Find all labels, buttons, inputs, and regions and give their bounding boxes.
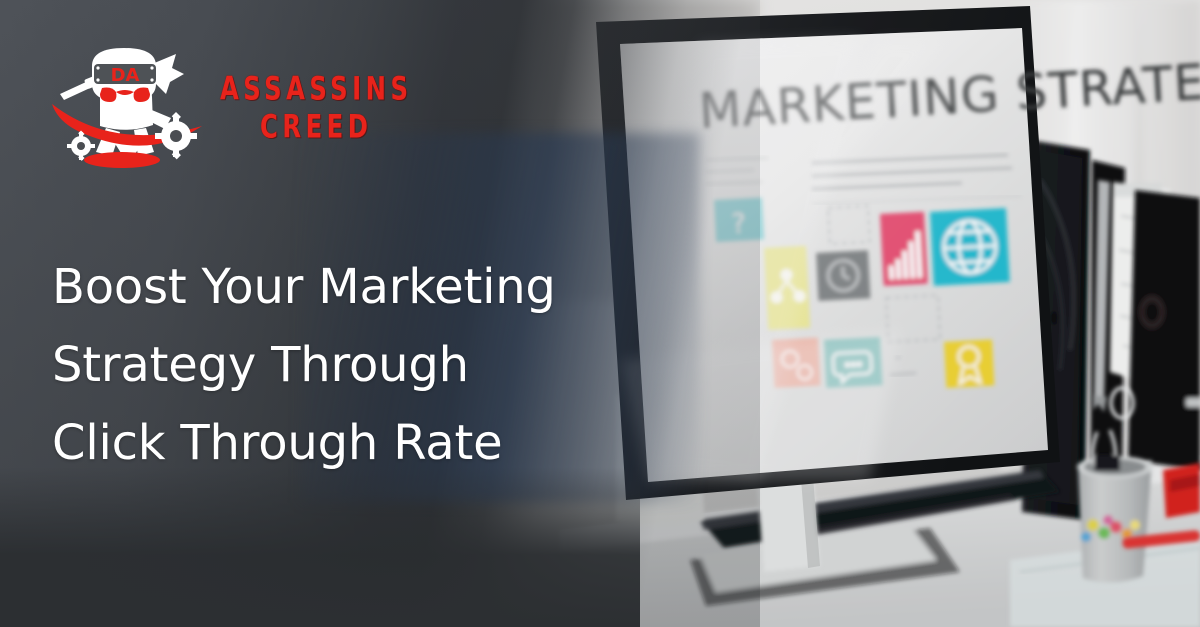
headline-line-1: Boost Your Marketing bbox=[52, 248, 652, 326]
headline-line-3: Click Through Rate bbox=[52, 404, 652, 482]
brand-name-line1: ASSASSINS bbox=[220, 73, 413, 105]
bottom-shade-overlay bbox=[0, 467, 640, 627]
svg-text:DA: DA bbox=[111, 65, 140, 86]
marketing-banner: MARKETING STRATEGY ? bbox=[0, 0, 1200, 627]
brand-name-line2: CREED bbox=[260, 111, 372, 143]
brand-logo[interactable]: DA bbox=[48, 42, 413, 170]
page-title: Boost Your Marketing Strategy Through Cl… bbox=[52, 248, 652, 482]
headline-line-2: Strategy Through bbox=[52, 326, 652, 404]
da-ninja-mascot-icon: DA bbox=[48, 42, 206, 170]
